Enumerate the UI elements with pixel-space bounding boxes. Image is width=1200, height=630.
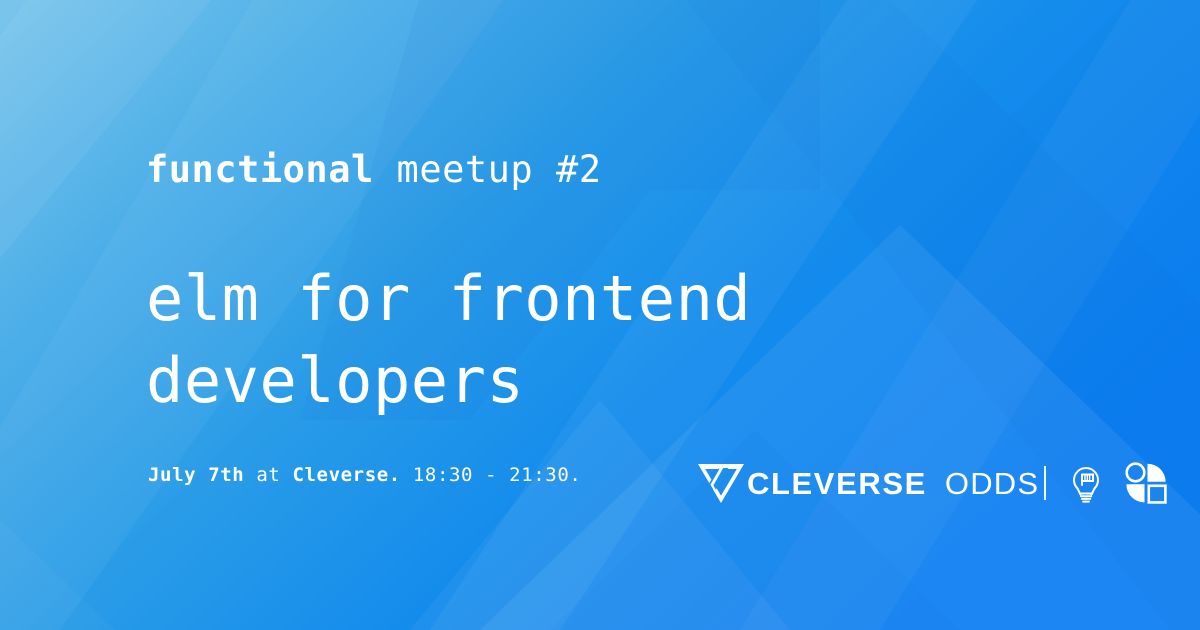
eyebrow-light: meetup #2 — [374, 148, 602, 191]
poster-content: functional meetup #2 elm for frontend de… — [0, 0, 1200, 630]
lightbulb-icon — [1068, 461, 1104, 505]
event-poster: functional meetup #2 elm for frontend de… — [0, 0, 1200, 630]
eyebrow-strong: functional — [146, 148, 374, 191]
event-date: July 7th — [148, 464, 244, 486]
event-details-line: July 7th at Cleverse. 18:30 - 21:30. — [148, 466, 581, 485]
odds-wordmark: ODDS — [945, 468, 1039, 499]
event-time: 18:30 - 21:30. — [401, 464, 582, 486]
cleverse-wordmark: CLEVERSE — [747, 468, 927, 499]
odds-quadrant-icon — [1124, 461, 1168, 505]
cleverse-triangle-mark-icon — [697, 462, 745, 504]
page-title: elm for frontend developers — [146, 258, 751, 422]
event-at-word: at — [244, 464, 292, 486]
event-venue: Cleverse. — [292, 464, 400, 486]
odds-divider — [1044, 466, 1046, 500]
logo-lockup: CLEVERSE ODDS — [697, 452, 1168, 514]
eyebrow-line: functional meetup #2 — [146, 151, 602, 188]
